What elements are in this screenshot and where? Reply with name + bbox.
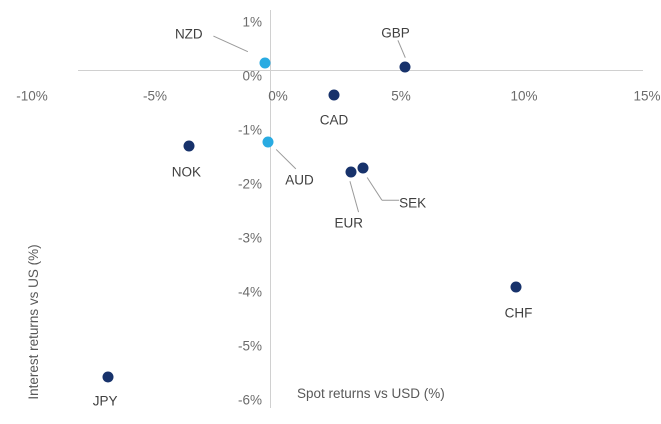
label-leader-lines: [0, 0, 661, 424]
leader-line: [398, 40, 405, 57]
leader-line: [367, 178, 382, 201]
x-tick-label: 10%: [510, 89, 537, 104]
y-tick-label: -1%: [238, 123, 262, 138]
x-tick-label: -10%: [16, 89, 48, 104]
x-tick-label: 0%: [268, 89, 288, 104]
leader-line: [276, 149, 296, 168]
x-tick-label: 15%: [633, 89, 660, 104]
y-tick-label: 0%: [242, 69, 262, 84]
x-axis-zero-line: [78, 70, 643, 71]
x-axis-title: Spot returns vs USD (%): [297, 386, 445, 401]
data-point-nok[interactable]: [183, 141, 194, 152]
point-label-gbp: GBP: [381, 25, 410, 40]
data-point-aud[interactable]: [262, 136, 273, 147]
data-point-eur[interactable]: [346, 167, 357, 178]
point-label-sek: SEK: [399, 196, 426, 211]
data-point-sek[interactable]: [358, 162, 369, 173]
data-point-cad[interactable]: [328, 89, 339, 100]
point-label-nzd: NZD: [175, 26, 203, 41]
data-point-gbp[interactable]: [400, 61, 411, 72]
point-label-cad: CAD: [320, 113, 349, 128]
leader-line: [350, 181, 359, 212]
y-tick-label: 1%: [242, 15, 262, 30]
data-point-nzd[interactable]: [260, 57, 271, 68]
x-tick-label: -5%: [143, 89, 167, 104]
data-point-jpy[interactable]: [102, 372, 113, 383]
y-axis-title: Interest returns vs US (%): [26, 244, 41, 399]
y-tick-label: -6%: [238, 393, 262, 408]
y-tick-label: -4%: [238, 285, 262, 300]
scatter-chart: -10%-5%0%5%10%15% 1%0%-1%-2%-3%-4%-5%-6%…: [0, 0, 661, 424]
data-point-chf[interactable]: [511, 281, 522, 292]
point-label-aud: AUD: [285, 173, 314, 188]
point-label-chf: CHF: [505, 305, 533, 320]
x-tick-label: 5%: [391, 89, 411, 104]
y-tick-label: -3%: [238, 231, 262, 246]
leader-line: [213, 36, 247, 52]
y-axis-zero-line: [270, 10, 271, 408]
point-label-eur: EUR: [334, 215, 363, 230]
point-label-jpy: JPY: [93, 394, 118, 409]
point-label-nok: NOK: [172, 165, 201, 180]
y-tick-label: -2%: [238, 177, 262, 192]
y-tick-label: -5%: [238, 339, 262, 354]
